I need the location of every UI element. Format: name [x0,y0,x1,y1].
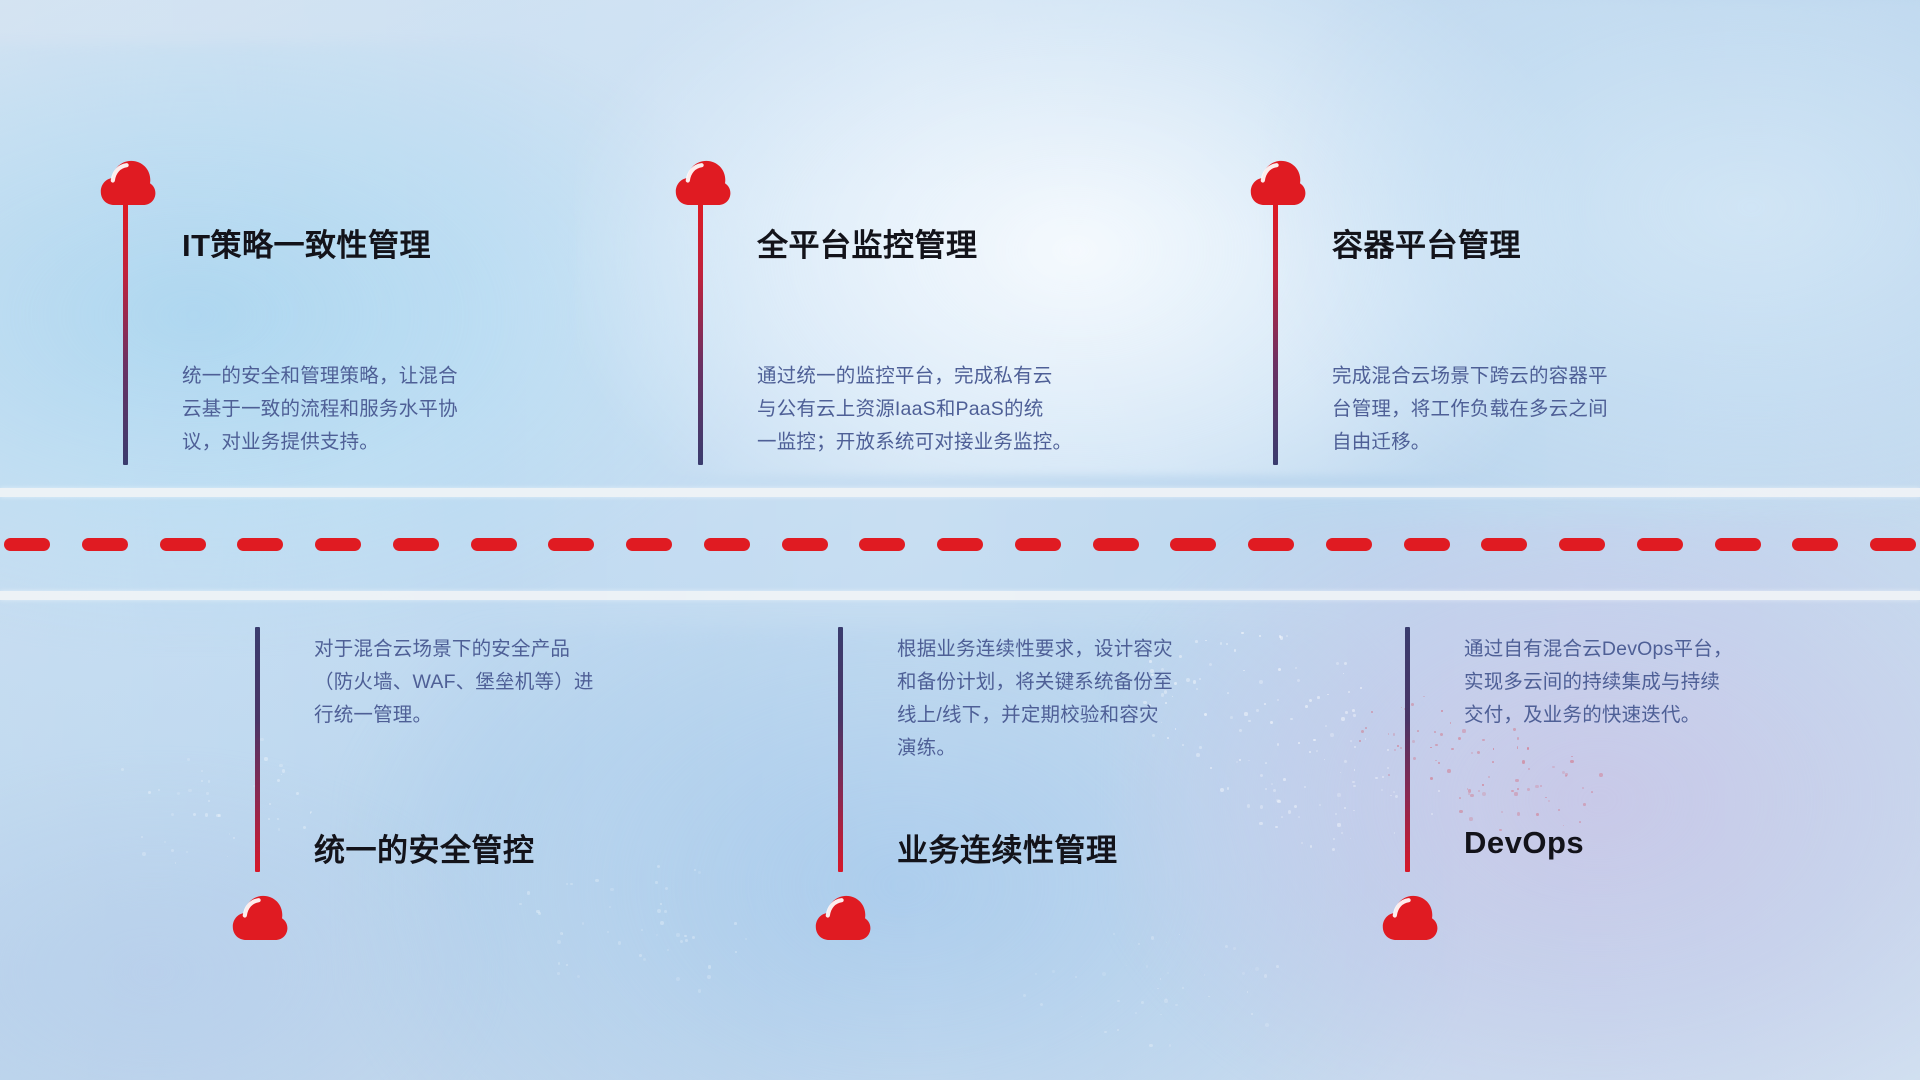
cloud-icon [675,160,731,206]
connector-line [1273,200,1278,465]
road-dash [160,538,206,551]
infographic-canvas: IT策略一致性管理 统一的安全和管理策略，让混合 云基于一致的流程和服务水平协 … [0,0,1920,1080]
road-dash [1559,538,1605,551]
road-edge-top [0,488,1920,497]
item-heading: 统一的安全管控 [314,825,535,870]
connector-line [698,200,703,465]
road-dash [393,538,439,551]
cloud-icon [1382,895,1438,941]
road-dash [315,538,361,551]
item-heading: DevOps [1464,825,1584,861]
road-dash [82,538,128,551]
cloud-icon [1250,160,1306,206]
item-heading: IT策略一致性管理 [182,220,431,265]
road-dash [1481,538,1527,551]
road-dash [1015,538,1061,551]
road-edge-bottom [0,591,1920,600]
road-dash [471,538,517,551]
item-heading: 全平台监控管理 [757,220,978,265]
road-dash [237,538,283,551]
road-dash [1326,538,1372,551]
road-dash [1093,538,1139,551]
item-body: 根据业务连续性要求，设计容灾 和备份计划，将关键系统备份至 线上/线下，并定期校… [897,633,1337,765]
road-dash [704,538,750,551]
road-dash [626,538,672,551]
item-body: 对于混合云场景下的安全产品 （防火墙、WAF、堡垒机等）进 行统一管理。 [314,633,754,732]
road-dash [1792,538,1838,551]
item-body: 通过统一的监控平台，完成私有云 与公有云上资源IaaS和PaaS的统 一监控；开… [757,360,1217,459]
road-dash [1870,538,1916,551]
cloud-icon [815,895,871,941]
road-dash [859,538,905,551]
connector-line [1405,627,1410,872]
connector-line [255,627,260,872]
road-dash [1248,538,1294,551]
road-dash [1404,538,1450,551]
road-dash [4,538,50,551]
item-heading: 业务连续性管理 [897,825,1118,870]
item-body: 统一的安全和管理策略，让混合 云基于一致的流程和服务水平协 议，对业务提供支持。 [182,360,622,459]
road-dash [1715,538,1761,551]
item-body: 通过自有混合云DevOps平台， 实现多云间的持续集成与持续 交付，及业务的快速… [1464,633,1884,732]
connector-line [838,627,843,872]
road-dash [1170,538,1216,551]
item-body: 完成混合云场景下跨云的容器平 台管理，将工作负载在多云之间 自由迁移。 [1332,360,1772,459]
road-dash [937,538,983,551]
road-dash [782,538,828,551]
cloud-icon [232,895,288,941]
road-divider [0,488,1920,600]
road-center-dashes [0,538,1920,551]
road-dash [548,538,594,551]
item-heading: 容器平台管理 [1332,220,1521,265]
road-dash [1637,538,1683,551]
cloud-icon [100,160,156,206]
connector-line [123,200,128,465]
